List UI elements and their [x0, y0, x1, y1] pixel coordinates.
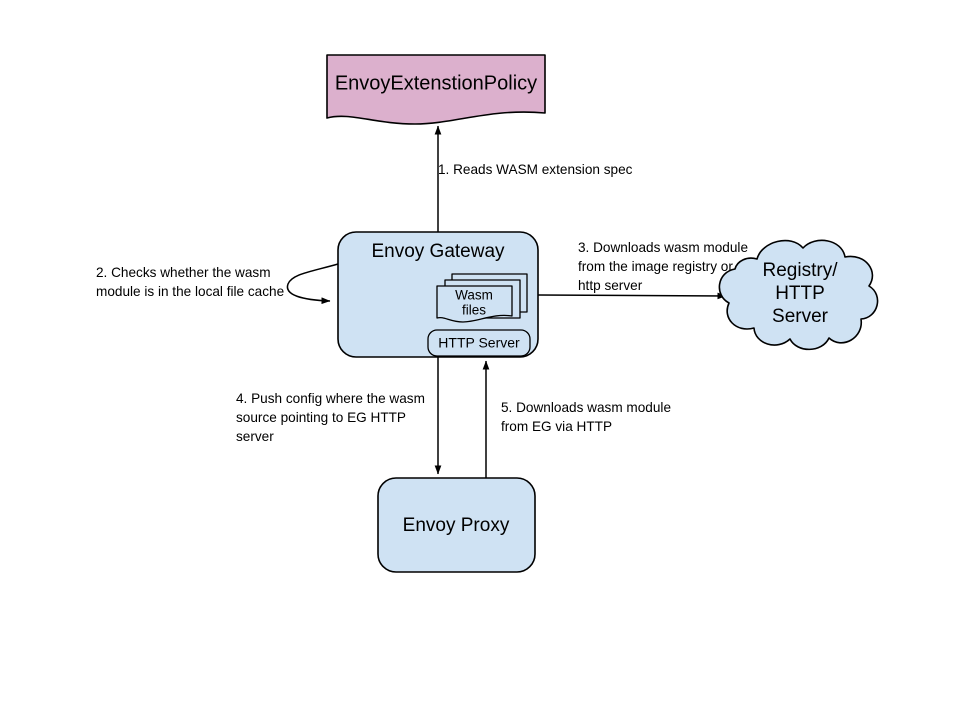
node-envoy-gateway[interactable]: Envoy Gateway Wasm files HTTP Server [338, 232, 538, 357]
node-http-server[interactable]: HTTP Server [428, 330, 530, 356]
http-server-label: HTTP Server [438, 335, 520, 351]
diagram-svg: EnvoyExtenstionPolicy Envoy Gateway Wasm… [0, 0, 960, 720]
diagram-canvas: EnvoyExtenstionPolicy Envoy Gateway Wasm… [0, 0, 960, 720]
wasm-files-label-line1: Wasm [455, 288, 493, 303]
connector-4-label: 4. Push config where the wasm source poi… [236, 389, 436, 446]
connector-1-label: 1. Reads WASM extension spec [438, 160, 678, 179]
node-wasm-files[interactable]: Wasm files [437, 274, 527, 322]
registry-label-line3: Server [772, 306, 829, 327]
proxy-label: Envoy Proxy [403, 515, 510, 536]
node-envoy-extension-policy[interactable]: EnvoyExtenstionPolicy [327, 55, 545, 124]
connector-3-label: 3. Downloads wasm module from the image … [578, 238, 748, 295]
connector-2-label: 2. Checks whether the wasm module is in … [96, 263, 296, 301]
policy-label: EnvoyExtenstionPolicy [335, 72, 537, 94]
registry-label-line2: HTTP [775, 283, 825, 304]
wasm-files-label-line2: files [462, 303, 486, 318]
connector-5-label: 5. Downloads wasm module from EG via HTT… [501, 398, 701, 436]
gateway-label: Envoy Gateway [371, 241, 505, 262]
node-envoy-proxy[interactable]: Envoy Proxy [378, 478, 535, 572]
registry-label-line1: Registry/ [763, 260, 839, 281]
connector-3-download-module [538, 295, 726, 296]
